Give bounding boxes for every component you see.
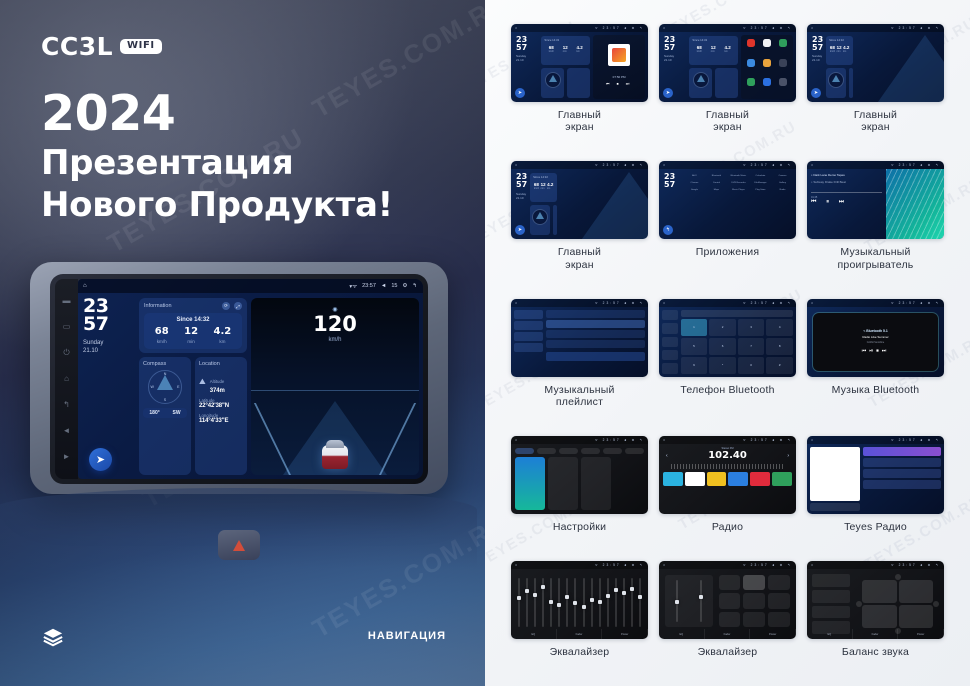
eq-band[interactable] bbox=[583, 578, 585, 627]
footer-tab[interactable]: EQ bbox=[659, 629, 705, 639]
radio-screen[interactable]: Stereo FM ‹ 102.40 › bbox=[659, 444, 796, 514]
screen-thumbnail[interactable]: ⌂ ᯤ 23:57 ◄ ⚙ ↰ 23 57 Sunday21.10 ➤ Sinc… bbox=[807, 24, 944, 102]
screen-thumbnail[interactable]: ⌂ ᯤ 23:57 ◄ ⚙ ↰ bbox=[511, 436, 648, 514]
mute-icon[interactable]: ▭ bbox=[63, 323, 71, 331]
settings-tab[interactable] bbox=[559, 448, 578, 454]
eq-band[interactable] bbox=[623, 578, 625, 627]
hardware-button-bar[interactable]: ▬ ▭ ⏻ ⌂ ↰ ◄ ► bbox=[55, 279, 78, 479]
eq-knob[interactable] bbox=[533, 593, 537, 597]
thumb-clock-widget[interactable]: 23 57 Sunday21.10 ➤ bbox=[511, 32, 538, 102]
track-row[interactable] bbox=[546, 320, 645, 328]
dialer[interactable]: 123456789*0# bbox=[681, 310, 793, 374]
compass-dial bbox=[545, 72, 561, 88]
balance-pad[interactable] bbox=[856, 574, 939, 634]
eq-knob[interactable] bbox=[606, 594, 610, 598]
dialpad-key[interactable]: 2 bbox=[709, 319, 736, 336]
eq-band[interactable] bbox=[639, 578, 641, 627]
screen-caption: Эквалайзер bbox=[698, 646, 758, 658]
app-tile[interactable]: Bluetooth bbox=[707, 174, 726, 177]
preset-tile[interactable] bbox=[663, 472, 683, 486]
sidebar-item[interactable] bbox=[514, 332, 543, 341]
app-label: Calculator bbox=[751, 175, 770, 177]
thumb-driving-view[interactable]: 105 km/h bbox=[873, 35, 944, 102]
thumb-clock-widget[interactable]: 23 57 Sunday21.10 ➤ bbox=[511, 169, 527, 239]
footer-tab[interactable]: Power bbox=[898, 629, 944, 639]
balance-sliders[interactable] bbox=[812, 574, 850, 634]
fader-panel[interactable] bbox=[665, 575, 713, 627]
track-row[interactable] bbox=[546, 340, 645, 348]
preset-button[interactable] bbox=[768, 575, 790, 590]
footer-tab[interactable]: Power bbox=[602, 629, 648, 639]
thumb-compass-widget[interactable] bbox=[826, 68, 846, 98]
music-player-screen[interactable]: ♪ Dark Lane Demo Tapes ♪ Subway Drake Dr… bbox=[807, 169, 944, 239]
eq-band[interactable] bbox=[518, 578, 520, 627]
thumb-compass-widget[interactable] bbox=[689, 68, 712, 98]
album-art bbox=[608, 44, 630, 66]
station-row[interactable] bbox=[863, 469, 941, 478]
thumb-stat: 68 km/h bbox=[534, 182, 539, 190]
next-station-button[interactable]: › bbox=[787, 453, 789, 459]
app-shortcut-icon[interactable] bbox=[779, 78, 787, 86]
screen-caption: Настройки bbox=[553, 521, 606, 533]
volume-down-icon[interactable]: ◄ bbox=[63, 427, 71, 435]
app-tile[interactable]: Camera bbox=[773, 174, 792, 177]
settings-tab[interactable] bbox=[625, 448, 644, 454]
thumb-media-widget[interactable]: 07:50 PM ⏮ ⏹ ⏭ bbox=[593, 35, 645, 99]
screen-thumbnail[interactable]: ⌂ ᯤ 23:57 ◄ ⚙ ↰ 23 57 Sunday21.10 ➤ Sinc… bbox=[511, 161, 648, 239]
app-shortcut-icon[interactable] bbox=[763, 59, 771, 67]
preset-button[interactable] bbox=[719, 593, 741, 608]
screen-cell-eq-1[interactable]: ⌂ ᯤ 23:57 ◄ ⚙ ↰ EQFaderPower Эквалайзер bbox=[511, 561, 648, 676]
home-icon[interactable]: ⌂ bbox=[83, 283, 87, 289]
arrow-up-icon[interactable] bbox=[895, 574, 901, 580]
footer-tab[interactable]: EQ bbox=[807, 629, 853, 639]
thumb-location-widget[interactable] bbox=[715, 68, 738, 98]
navigation-arrow-icon[interactable]: ➤ bbox=[811, 88, 821, 98]
thumb-stat-unit: km/h bbox=[549, 50, 554, 53]
sidebar-item[interactable] bbox=[662, 363, 678, 373]
sidebar-item[interactable] bbox=[514, 321, 543, 330]
trip-stat-unit: min bbox=[184, 339, 198, 344]
app-shortcut-icon[interactable] bbox=[747, 78, 755, 86]
layers-icon[interactable] bbox=[42, 626, 64, 648]
screen-thumbnail[interactable]: ⌂ ᯤ 23:57 ◄ ⚙ ↰ 23 57 ↰ AUX Bluetooth Bl… bbox=[659, 161, 796, 239]
now-playing-bar[interactable] bbox=[546, 352, 645, 361]
speaker-rear-right[interactable] bbox=[899, 605, 933, 628]
eq-knob[interactable] bbox=[573, 601, 577, 605]
track-artist: Cobbit Sunshine bbox=[867, 341, 885, 344]
trip-stat: 12 min bbox=[184, 327, 198, 344]
preset-button[interactable] bbox=[719, 575, 741, 590]
balance-slider[interactable] bbox=[812, 606, 850, 619]
thumb-clock-minutes: 57 bbox=[664, 181, 681, 189]
app-shortcut-icon[interactable] bbox=[779, 59, 787, 67]
eq-band[interactable] bbox=[534, 578, 536, 627]
navigation-arrow-icon[interactable]: ➤ bbox=[663, 88, 673, 98]
eq-knob[interactable] bbox=[630, 587, 634, 591]
thumb-stats: 68 km/h 12 min 4.2 km bbox=[692, 45, 735, 53]
refresh-icon[interactable]: ⟳ bbox=[222, 302, 230, 310]
thumbnail-body: 23 57 ↰ AUX Bluetooth Bluetooth Music Ca… bbox=[659, 169, 796, 239]
playlist-screen[interactable] bbox=[511, 307, 648, 377]
player-panel bbox=[810, 447, 860, 511]
hazard-light-button[interactable] bbox=[218, 530, 260, 560]
track-info: ♪ Dark Lane Demo Tapes ♪ Subway Drake Dr… bbox=[807, 169, 886, 239]
eq-band[interactable] bbox=[599, 578, 601, 627]
settings-tab[interactable] bbox=[581, 448, 600, 454]
preset-tile[interactable] bbox=[772, 472, 792, 486]
head-unit-body: 23 57 Sunday 21.10 ➤ Information bbox=[78, 293, 423, 479]
settings-tab[interactable] bbox=[515, 448, 534, 454]
teyes-radio-screen[interactable] bbox=[807, 444, 944, 514]
thumb-location-widget[interactable] bbox=[553, 205, 557, 235]
station-list[interactable] bbox=[863, 447, 941, 511]
dialpad-key[interactable]: 1 bbox=[681, 319, 708, 336]
equalizer-footer[interactable]: EQFaderPower bbox=[511, 629, 648, 639]
media-controls[interactable]: ⏮ ⏹ ⏭ bbox=[593, 81, 645, 86]
dialpad-key[interactable]: 4 bbox=[766, 319, 793, 336]
speaker-front-left[interactable] bbox=[862, 580, 896, 603]
head-unit-bezel: ▬ ▭ ⏻ ⌂ ↰ ◄ ► ⌂ ▾ᯤ 23:57 ◄ 15 bbox=[50, 274, 428, 484]
trip-stat-value: 4.2 bbox=[214, 327, 232, 337]
screen-cell-home-2[interactable]: ⌂ ᯤ 23:57 ◄ ⚙ ↰ 23 57 Sunday21.10 ➤ Sinc… bbox=[659, 24, 796, 151]
thumb-compass-widget[interactable] bbox=[541, 68, 564, 98]
playback-controls[interactable]: ⏮⏯⏹⏭ bbox=[862, 348, 890, 354]
thumb-clock-widget[interactable]: 23 57 Sunday21.10 ➤ bbox=[659, 32, 686, 102]
eq-band[interactable] bbox=[558, 578, 560, 627]
driving-view-widget[interactable]: ◉ 120 km/h bbox=[251, 298, 419, 475]
eq-knob[interactable] bbox=[699, 595, 703, 599]
station-row[interactable] bbox=[863, 447, 941, 456]
wave-pattern bbox=[886, 169, 944, 239]
eq-knob[interactable] bbox=[622, 591, 626, 595]
location-widget[interactable]: Location ⛰ Altitude 374m bbox=[195, 357, 247, 475]
dialpad-key[interactable]: 8 bbox=[766, 338, 793, 355]
dialpad-key[interactable]: 0 bbox=[738, 357, 765, 374]
settings-tiles[interactable] bbox=[515, 457, 644, 510]
app-tile[interactable]: Radio bbox=[773, 188, 792, 191]
eq-band[interactable] bbox=[615, 578, 617, 627]
preset-button[interactable] bbox=[719, 612, 741, 627]
balance-slider[interactable] bbox=[812, 574, 850, 587]
information-card[interactable]: Information ⟳ ⤢ Since 14:32 bbox=[139, 298, 247, 353]
eq-knob[interactable] bbox=[582, 605, 586, 609]
screen-cell-home-4[interactable]: ⌂ ᯤ 23:57 ◄ ⚙ ↰ 23 57 Sunday21.10 ➤ Sinc… bbox=[511, 161, 648, 288]
screen-cell-settings[interactable]: ⌂ ᯤ 23:57 ◄ ⚙ ↰ Настройки bbox=[511, 436, 648, 551]
app-tile[interactable]: FileManager bbox=[751, 181, 770, 184]
eq-knob[interactable] bbox=[614, 588, 618, 592]
compass-dial: N S W E bbox=[148, 370, 182, 404]
eq-knob[interactable] bbox=[549, 600, 553, 604]
track-list[interactable] bbox=[546, 310, 645, 374]
dialpad-key[interactable]: 5 bbox=[681, 338, 708, 355]
dialpad-key[interactable]: 6 bbox=[709, 338, 736, 355]
eq-band[interactable] bbox=[700, 580, 702, 622]
thumb-speed-unit: km/h bbox=[922, 55, 928, 58]
app-shortcut-icon[interactable] bbox=[763, 78, 771, 86]
settings-tab[interactable] bbox=[603, 448, 622, 454]
dialpad-key[interactable]: * bbox=[709, 357, 736, 374]
home-icon: ⌂ bbox=[811, 26, 813, 30]
thumb-status-bar: ⌂ ᯤ 23:57 ◄ ⚙ ↰ bbox=[659, 161, 796, 169]
menu-icon[interactable]: ▬ bbox=[63, 297, 71, 305]
screen-cell-apps[interactable]: ⌂ ᯤ 23:57 ◄ ⚙ ↰ 23 57 ↰ AUX Bluetooth Bl… bbox=[659, 161, 796, 288]
settings-icon[interactable]: ⚙ bbox=[402, 283, 407, 289]
thumb-app-shortcuts[interactable] bbox=[741, 35, 793, 99]
app-shortcut-icon[interactable] bbox=[747, 39, 755, 47]
footer-tab[interactable]: Fader bbox=[853, 629, 899, 639]
footer-tab[interactable]: Power bbox=[750, 629, 796, 639]
home-icon: ⌂ bbox=[515, 438, 517, 442]
screen-cell-playlist[interactable]: ⌂ ᯤ 23:57 ◄ ⚙ ↰ Музыкальныйплейлист bbox=[511, 299, 648, 426]
preset-tile[interactable] bbox=[707, 472, 727, 486]
sidebar-item[interactable] bbox=[662, 310, 678, 320]
eq-band[interactable] bbox=[631, 578, 633, 627]
track-row[interactable] bbox=[546, 310, 645, 318]
eq-knob[interactable] bbox=[557, 603, 561, 607]
thumb-information-card[interactable]: Since 14:32 68 km/h 12 min 4.2 km bbox=[826, 36, 853, 65]
eq-knob[interactable] bbox=[525, 589, 529, 593]
app-tile[interactable]: Chrome bbox=[685, 181, 704, 184]
hero-footer: НАВИГАЦИЯ bbox=[0, 626, 485, 652]
bluetooth-music-screen[interactable]: ⌁ Bluetooth 5.1 Radio Like Summer Cobbit… bbox=[807, 307, 944, 377]
app-tile[interactable]: AUX bbox=[685, 174, 704, 177]
thumb-clock-widget[interactable]: 23 57 Sunday21.10 ➤ bbox=[807, 32, 823, 102]
status-icons: ᯤ 23:57 ◄ ⚙ ↰ bbox=[743, 301, 792, 305]
screen-thumbnail[interactable]: ⌂ ᯤ 23:57 ◄ ⚙ ↰ ♪ Dark Lane Demo Tapes ♪… bbox=[807, 161, 944, 239]
sidebar-item[interactable] bbox=[514, 310, 543, 319]
app-tile[interactable]: Calculator bbox=[751, 174, 770, 177]
phone-sidebar[interactable] bbox=[662, 310, 678, 374]
power-icon[interactable]: ⏻ bbox=[63, 349, 69, 357]
clock-widget[interactable]: 23 57 Sunday 21.10 ➤ bbox=[83, 298, 135, 475]
thumb-information-card[interactable]: Since 14:32 68 km/h 12 min 4.2 km bbox=[689, 36, 738, 65]
dialpad-key[interactable]: 9 bbox=[681, 357, 708, 374]
footer-tab[interactable]: EQ bbox=[511, 629, 557, 639]
app-tile[interactable]: DVR Recorder bbox=[729, 181, 748, 184]
app-tile[interactable]: Gallery bbox=[773, 181, 792, 184]
preset-button[interactable] bbox=[768, 593, 790, 608]
speaker-front-right[interactable] bbox=[899, 580, 933, 603]
track-row[interactable] bbox=[546, 330, 645, 338]
screen-thumbnail[interactable]: ⌂ ᯤ 23:57 ◄ ⚙ ↰ 23 57 Sunday21.10 ➤ Sinc… bbox=[659, 24, 796, 102]
compass-cone-icon bbox=[536, 212, 544, 219]
screen-cell-eq-2[interactable]: ⌂ ᯤ 23:57 ◄ ⚙ ↰ EQFaderPower Эквалайзер bbox=[659, 561, 796, 676]
dialpad-key[interactable]: # bbox=[766, 357, 793, 374]
navigation-arrow-icon[interactable]: ➤ bbox=[515, 88, 525, 98]
eq-band[interactable] bbox=[526, 578, 528, 627]
preset-tile[interactable] bbox=[750, 472, 770, 486]
app-grid[interactable]: AUX Bluetooth Bluetooth Music Calculator… bbox=[681, 169, 796, 239]
thumb-widget-column: Since 14:32 68 km/h 12 min 4.2 km bbox=[538, 32, 593, 102]
preset-button[interactable] bbox=[743, 575, 765, 590]
sidebar-item[interactable] bbox=[662, 337, 678, 347]
screen-thumbnail[interactable]: ⌂ ᯤ 23:57 ◄ ⚙ ↰ Stereo FM ‹ 102.40 › bbox=[659, 436, 796, 514]
home-icon: ⌂ bbox=[811, 438, 813, 442]
arrow-right-icon[interactable] bbox=[933, 601, 939, 607]
progress-bar[interactable] bbox=[811, 192, 882, 193]
eq-band[interactable] bbox=[542, 578, 544, 627]
dialpad-key[interactable]: 3 bbox=[738, 319, 765, 336]
home-icon: ⌂ bbox=[663, 563, 665, 567]
app-label: Play Store bbox=[751, 189, 770, 191]
eq-band[interactable] bbox=[574, 578, 576, 627]
more-tile[interactable] bbox=[581, 457, 611, 510]
screen-cell-home-3[interactable]: ⌂ ᯤ 23:57 ◄ ⚙ ↰ 23 57 Sunday21.10 ➤ Sinc… bbox=[807, 24, 944, 151]
screen-thumbnail[interactable]: ⌂ ᯤ 23:57 ◄ ⚙ ↰ EQFaderPower bbox=[659, 561, 796, 639]
thumb-clock-widget[interactable]: 23 57 ↰ bbox=[659, 169, 681, 239]
compass-widget[interactable]: Compass N S W E 180° bbox=[139, 357, 191, 475]
thumb-location-widget[interactable] bbox=[849, 68, 853, 98]
playback-controls[interactable] bbox=[810, 503, 860, 511]
playlist-sidebar[interactable] bbox=[514, 310, 543, 374]
thumb-location-widget[interactable] bbox=[567, 68, 590, 98]
screen-cell-music-player[interactable]: ⌂ ᯤ 23:57 ◄ ⚙ ↰ ♪ Dark Lane Demo Tapes ♪… bbox=[807, 161, 944, 288]
thumb-information-card[interactable]: Since 14:32 68 km/h 12 min 4.2 km bbox=[530, 173, 557, 202]
balance-footer[interactable]: EQFaderPower bbox=[807, 629, 944, 639]
app-tile[interactable]: Control bbox=[707, 181, 726, 184]
screen-thumbnail[interactable]: ⌂ ᯤ 23:57 ◄ ⚙ ↰ EQFaderPower bbox=[807, 561, 944, 639]
longitude-value: 114°4'33"E bbox=[199, 418, 243, 424]
settings-tabs[interactable] bbox=[515, 448, 644, 454]
preset-grid[interactable] bbox=[719, 575, 791, 627]
app-tile[interactable]: Maps bbox=[707, 188, 726, 191]
eq-knob[interactable] bbox=[590, 598, 594, 602]
expand-icon[interactable]: ⤢ bbox=[234, 302, 242, 310]
eq-knob[interactable] bbox=[638, 595, 642, 599]
eq-band[interactable] bbox=[550, 578, 552, 627]
preset-button[interactable] bbox=[743, 612, 765, 627]
home-icon[interactable]: ⌂ bbox=[64, 375, 69, 383]
eq-band[interactable] bbox=[566, 578, 568, 627]
back-icon[interactable]: ↰ bbox=[63, 401, 70, 409]
app-label: FileManager bbox=[751, 182, 770, 184]
dialpad-key[interactable]: 7 bbox=[738, 338, 765, 355]
screen-thumbnail[interactable]: ⌂ ᯤ 23:57 ◄ ⚙ ↰ 123456789*0# bbox=[659, 299, 796, 377]
eq-knob[interactable] bbox=[565, 595, 569, 599]
eq-band[interactable] bbox=[676, 580, 678, 622]
eq-knob[interactable] bbox=[675, 600, 679, 604]
app-tile[interactable]: Google bbox=[685, 188, 704, 191]
station-row[interactable] bbox=[863, 480, 941, 489]
screen-caption: Радио bbox=[712, 521, 743, 533]
home-icon: ⌂ bbox=[811, 163, 813, 167]
thumb-clock-date: Sunday21.10 bbox=[664, 54, 686, 62]
navigation-arrow-icon[interactable]: ➤ bbox=[89, 448, 112, 471]
information-card-actions[interactable]: ⟳ ⤢ bbox=[222, 302, 242, 310]
station-presets[interactable] bbox=[663, 472, 792, 486]
screen-thumbnail[interactable]: ⌂ ᯤ 23:57 ◄ ⚙ ↰ bbox=[807, 436, 944, 514]
screen-cell-bt-phone[interactable]: ⌂ ᯤ 23:57 ◄ ⚙ ↰ 123456789*0# Телефон Blu… bbox=[659, 299, 796, 426]
empty-tile bbox=[614, 457, 644, 510]
playback-controls[interactable]: ⏮ ⏸ ⏭ bbox=[811, 199, 882, 206]
eq-band[interactable] bbox=[607, 578, 609, 627]
bluetooth-phone-screen[interactable]: 123456789*0# bbox=[659, 307, 796, 377]
thumbnail-body: EQFaderPower bbox=[511, 569, 648, 639]
frequency-scale[interactable] bbox=[671, 464, 784, 469]
thumbnail-body bbox=[807, 444, 944, 514]
thumb-status-bar: ⌂ ᯤ 23:57 ◄ ⚙ ↰ bbox=[511, 24, 648, 32]
eq-knob[interactable] bbox=[517, 596, 521, 600]
app-shortcut-icon[interactable] bbox=[747, 59, 755, 67]
thumbnail-body: 23 57 Sunday21.10 ➤ Since 14:32 68 km/h … bbox=[511, 32, 648, 102]
eq-knob[interactable] bbox=[598, 600, 602, 604]
home-icon: ⌂ bbox=[515, 563, 517, 567]
sidebar-item[interactable] bbox=[662, 350, 678, 360]
screen-cell-teyes-radio[interactable]: ⌂ ᯤ 23:57 ◄ ⚙ ↰ Teyes Радио bbox=[807, 436, 944, 551]
screens-grid: ⌂ ᯤ 23:57 ◄ ⚙ ↰ 23 57 Sunday21.10 ➤ Sinc… bbox=[511, 24, 944, 676]
screen-cell-radio[interactable]: ⌂ ᯤ 23:57 ◄ ⚙ ↰ Stereo FM ‹ 102.40 › Рад… bbox=[659, 436, 796, 551]
sidebar-item[interactable] bbox=[514, 343, 543, 352]
track-title: Radio Like Summer bbox=[862, 335, 888, 339]
settings-screen[interactable] bbox=[511, 444, 648, 514]
horizon-line bbox=[251, 390, 419, 391]
thumb-status-bar: ⌂ ᯤ 23:57 ◄ ⚙ ↰ bbox=[659, 24, 796, 32]
sidebar-item[interactable] bbox=[662, 323, 678, 333]
eq-band[interactable] bbox=[591, 578, 593, 627]
thumbnail-body: ♪ Dark Lane Demo Tapes ♪ Subway Drake Dr… bbox=[807, 169, 944, 239]
wifi-tile[interactable] bbox=[515, 457, 545, 510]
status-icons: ᯤ 23:57 ◄ ⚙ ↰ bbox=[595, 163, 644, 167]
track-artist: ♪ Subway Drake Drill Beat bbox=[811, 180, 882, 184]
screen-cell-bt-music[interactable]: ⌂ ᯤ 23:57 ◄ ⚙ ↰ ⌁ Bluetooth 5.1 Radio Li… bbox=[807, 299, 944, 426]
thumb-driving-view[interactable]: 120 km/h bbox=[577, 172, 648, 239]
preset-button[interactable] bbox=[743, 593, 765, 608]
app-shortcut-icon[interactable] bbox=[763, 39, 771, 47]
screen-thumbnail[interactable]: ⌂ ᯤ 23:57 ◄ ⚙ ↰ 23 57 Sunday21.10 ➤ Sinc… bbox=[511, 24, 648, 102]
balance-slider[interactable] bbox=[812, 590, 850, 603]
prev-station-button[interactable]: ‹ bbox=[666, 453, 668, 459]
app-tile[interactable]: Play Store bbox=[751, 188, 770, 191]
station-row[interactable] bbox=[863, 458, 941, 467]
app-tile[interactable]: Bluetooth Music bbox=[729, 174, 748, 177]
screen-cell-home-1[interactable]: ⌂ ᯤ 23:57 ◄ ⚙ ↰ 23 57 Sunday21.10 ➤ Sinc… bbox=[511, 24, 648, 151]
thumb-stat-unit: min bbox=[837, 50, 842, 53]
app-shortcut-icon[interactable] bbox=[779, 39, 787, 47]
hazard-triangle-icon bbox=[233, 540, 245, 551]
footer-tab[interactable]: Fader bbox=[705, 629, 751, 639]
screen-thumbnail[interactable]: ⌂ ᯤ 23:57 ◄ ⚙ ↰ EQFaderPower bbox=[511, 561, 648, 639]
preset-button[interactable] bbox=[768, 612, 790, 627]
screen-thumbnail[interactable]: ⌂ ᯤ 23:57 ◄ ⚙ ↰ bbox=[511, 299, 648, 377]
carplay-tile[interactable] bbox=[548, 457, 578, 510]
thumbnail-body: ⌁ Bluetooth 5.1 Radio Like Summer Cobbit… bbox=[807, 307, 944, 377]
back-icon[interactable]: ↰ bbox=[412, 283, 417, 289]
speed-value: 120 bbox=[313, 314, 357, 335]
trip-stat-value: 12 bbox=[184, 327, 198, 337]
preset-tile[interactable] bbox=[685, 472, 705, 486]
thumb-speed-value: 120 bbox=[619, 181, 638, 191]
app-tile[interactable]: Music Player bbox=[729, 188, 748, 191]
dialpad[interactable]: 123456789*0# bbox=[681, 319, 793, 374]
screen-cell-balance[interactable]: ⌂ ᯤ 23:57 ◄ ⚙ ↰ EQFaderPower Баланс звук… bbox=[807, 561, 944, 676]
equalizer-footer[interactable]: EQFaderPower bbox=[659, 629, 796, 639]
compass-north-label: N bbox=[164, 372, 167, 376]
back-icon[interactable]: ↰ bbox=[663, 225, 673, 235]
navigation-arrow-icon[interactable]: ➤ bbox=[515, 225, 525, 235]
settings-tab[interactable] bbox=[537, 448, 556, 454]
eq-knob[interactable] bbox=[541, 585, 545, 589]
footer-tab[interactable]: Fader bbox=[557, 629, 603, 639]
station-art bbox=[810, 447, 860, 501]
thumb-information-card[interactable]: Since 14:32 68 km/h 12 min 4.2 km bbox=[541, 36, 590, 65]
speaker-rear-left[interactable] bbox=[862, 605, 896, 628]
preset-tile[interactable] bbox=[728, 472, 748, 486]
volume-up-icon[interactable]: ► bbox=[63, 453, 71, 461]
thumb-compass-widget[interactable] bbox=[530, 205, 550, 235]
head-unit-screen[interactable]: ⌂ ▾ᯤ 23:57 ◄ 15 ⚙ ↰ 23 57 bbox=[78, 279, 423, 479]
screen-thumbnail[interactable]: ⌂ ᯤ 23:57 ◄ ⚙ ↰ ⌁ Bluetooth 5.1 Radio Li… bbox=[807, 299, 944, 377]
